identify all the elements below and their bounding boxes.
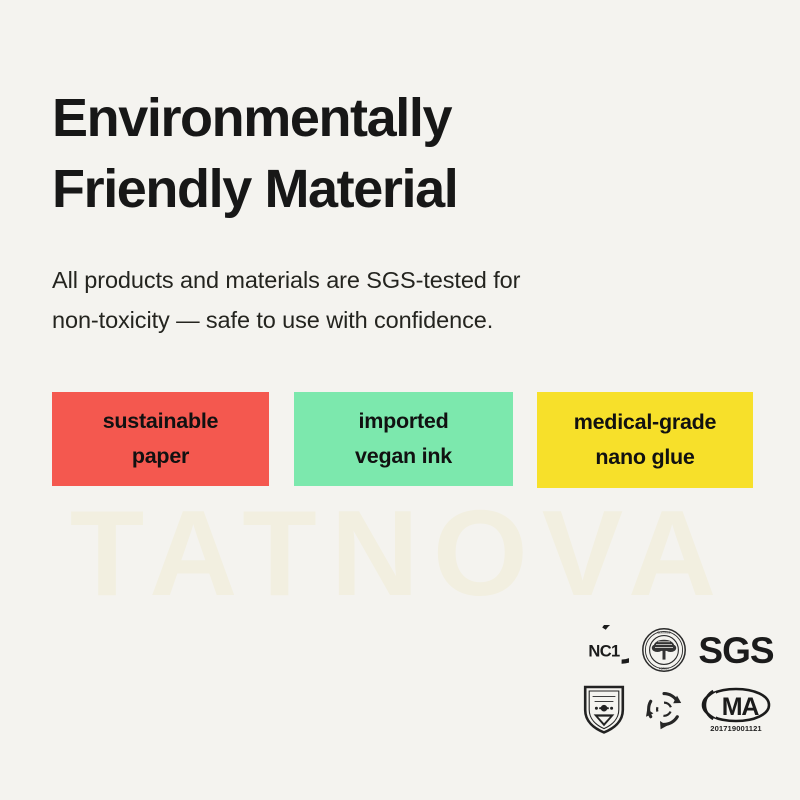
svg-text:FOREST: FOREST [659,668,670,671]
material-chip-label-line-2: paper [132,439,189,474]
material-chip-medical-grade-nano-glue: medical-grade nano glue [537,392,753,488]
shield-quality-seal-icon [576,680,632,738]
svg-text:MA: MA [722,693,760,721]
page-description-line-1: All products and materials are SGS-teste… [52,260,672,300]
page-title-line-2: Friendly Material [52,154,692,225]
page-description: All products and materials are SGS-teste… [52,260,672,341]
certification-badges: NC1 [576,624,776,738]
material-chip-row: sustainable paper imported vegan ink med… [52,392,753,488]
certification-row-top: NC1 [576,624,776,676]
certification-row-bottom: MA 201719001121 [576,680,776,738]
cma-seal-icon: MA 201719001121 [696,680,776,738]
material-chip-label-line-1: medical-grade [574,405,717,440]
fsc-tree-seal-icon: CERTIFIED FOREST [632,624,696,676]
sgs-wordmark-label: SGS [698,632,773,669]
page-title-line-1: Environmentally [52,83,692,154]
material-chip-label-line-1: sustainable [103,404,219,439]
material-chip-label-line-2: nano glue [595,440,694,475]
material-chip-label-line-2: vegan ink [355,439,452,474]
svg-text:CERTIFIED: CERTIFIED [657,631,670,634]
page-description-line-2: non-toxicity — safe to use with confiden… [52,300,672,340]
material-chip-imported-vegan-ink: imported vegan ink [294,392,513,486]
page-title: Environmentally Friendly Material [52,83,692,226]
cma-certificate-code: 201719001121 [710,725,761,733]
svg-text:NC1: NC1 [588,643,620,661]
sgs-wordmark-icon: SGS [696,624,776,676]
brand-watermark: TATNOVA [0,492,800,614]
nc1-seal-icon: NC1 [576,624,632,676]
recycling-arrows-icon [632,680,696,738]
poster-canvas: TATNOVA Environmentally Friendly Materia… [0,0,800,800]
material-chip-label-line-1: imported [359,404,449,439]
material-chip-sustainable-paper: sustainable paper [52,392,269,486]
